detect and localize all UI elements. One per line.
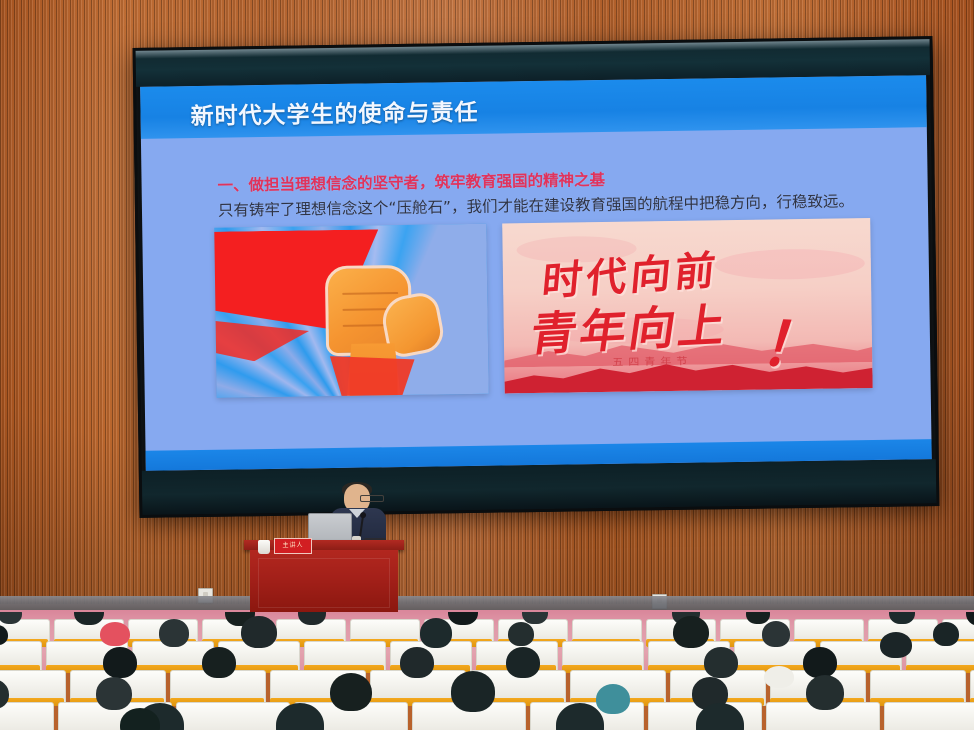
poster-line-2: 青年向上	[526, 289, 733, 365]
name-card-text: 主讲人	[275, 539, 311, 552]
lecture-hall-scene: 新时代大学生的使命与责任 一、做担当理想信念的坚守者，筑牢教育强国的精神之基 只…	[0, 0, 974, 730]
podium-body	[250, 550, 398, 612]
auditorium-seat	[176, 702, 290, 730]
water-cup	[258, 540, 270, 554]
audience-area	[0, 612, 974, 730]
audience-member-white-hat	[764, 666, 794, 688]
audience-member	[803, 647, 837, 678]
audience-member	[202, 647, 236, 678]
poster-subtitle: 五四青年节	[612, 353, 692, 369]
audience-member-red-hat	[100, 622, 130, 646]
slide-title: 新时代大学生的使命与责任	[190, 93, 478, 131]
audience-member	[103, 647, 137, 678]
audience-member	[420, 618, 453, 648]
podium-panel	[258, 558, 390, 608]
screen-frame: 新时代大学生的使命与责任 一、做担当理想信念的坚守者，筑牢教育强国的精神之基 只…	[133, 36, 940, 518]
audience-member	[880, 632, 912, 658]
audience-member	[506, 647, 540, 678]
projection-screen: 新时代大学生的使命与责任 一、做担当理想信念的坚守者，筑牢教育强国的精神之基 只…	[133, 36, 940, 518]
audience-member	[508, 622, 535, 646]
audience-member	[704, 647, 738, 678]
slide-image-calligraphy-poster: 时代向前 青年向上 ！ 五四青年节	[502, 218, 872, 393]
glasses-icon	[360, 495, 384, 502]
fist-sleeve	[326, 355, 419, 398]
audience-member	[762, 621, 791, 647]
audience-member	[330, 673, 372, 711]
audience-member	[241, 616, 276, 648]
name-card: 主讲人	[274, 538, 312, 554]
slide-image-raised-fist	[214, 224, 488, 398]
audience-member	[933, 622, 960, 646]
audience-member	[96, 677, 132, 710]
lecture-podium	[248, 540, 400, 612]
presentation-slide: 新时代大学生的使命与责任 一、做担当理想信念的坚守者，筑牢教育强国的精神之基 只…	[140, 75, 932, 471]
auditorium-seat	[884, 702, 974, 730]
auditorium-seat	[0, 702, 54, 730]
audience-member-teal-hat	[596, 684, 630, 714]
audience-member	[400, 647, 434, 678]
fist-icon	[319, 251, 433, 397]
audience-member	[159, 619, 190, 647]
audience-member	[806, 675, 845, 711]
audience-member	[673, 616, 708, 648]
audience-member	[451, 671, 496, 712]
